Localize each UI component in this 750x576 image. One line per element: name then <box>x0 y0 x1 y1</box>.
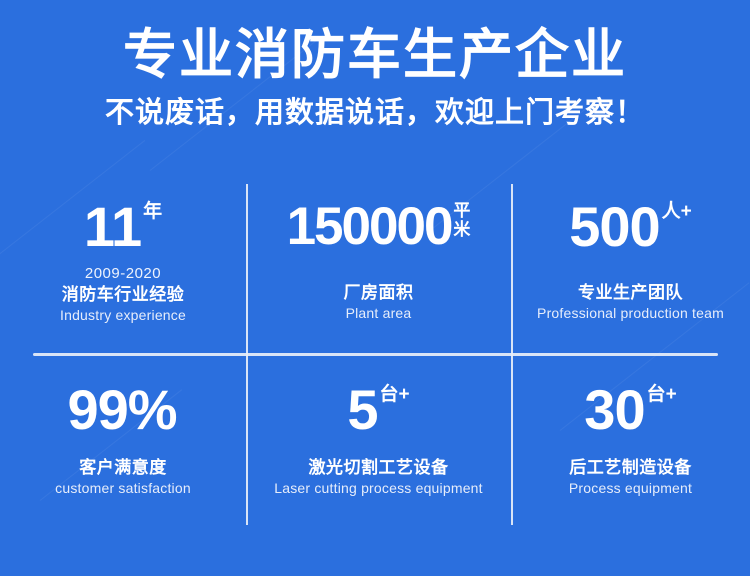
stat-figure: 500 人+ <box>569 198 692 256</box>
stat-cell-plant-area: 150000 平 米 厂房面积 Plant area <box>246 184 511 353</box>
stat-figure: 5 台+ <box>347 381 409 439</box>
stats-grid: 11 年 2009-2020 消防车行业经验 Industry experien… <box>0 184 750 525</box>
page-title: 专业消防车生产企业 <box>0 0 750 86</box>
stat-unit: 台+ <box>645 381 677 405</box>
stat-year-range: 2009-2020 <box>85 264 161 283</box>
stat-label-cn: 激光切割工艺设备 <box>309 457 449 479</box>
stat-figure: 11 年 <box>84 198 162 256</box>
stat-number: 99% <box>67 381 176 439</box>
stat-label-cn: 客户满意度 <box>79 457 167 479</box>
stat-label-en: Professional production team <box>537 304 724 323</box>
stat-figure: 150000 平 米 <box>287 198 471 256</box>
page-subtitle: 不说废话，用数据说话，欢迎上门考察！ <box>0 86 750 132</box>
banner-header: 专业消防车生产企业 不说废话，用数据说话，欢迎上门考察！ <box>0 0 750 132</box>
stat-label-cn: 厂房面积 <box>344 282 414 304</box>
stat-number: 30 <box>584 381 644 439</box>
stat-label-cn: 消防车行业经验 <box>62 284 185 306</box>
stat-number: 150000 <box>287 198 452 256</box>
stat-label-en: Process equipment <box>569 479 692 498</box>
stat-unit: 人+ <box>660 198 692 222</box>
stat-unit: 年 <box>141 198 162 222</box>
stat-number: 500 <box>569 198 659 256</box>
stat-label-en: Plant area <box>346 304 412 323</box>
stat-cell-process-equipment: 30 台+ 后工艺制造设备 Process equipment <box>511 353 750 525</box>
stat-number: 5 <box>347 381 377 439</box>
stat-unit-line1: 平 <box>453 201 470 220</box>
stat-unit <box>177 381 179 385</box>
stat-cell-production-team: 500 人+ 专业生产团队 Professional production te… <box>511 184 750 353</box>
stat-label-cn: 专业生产团队 <box>578 282 683 304</box>
stat-cell-industry-experience: 11 年 2009-2020 消防车行业经验 Industry experien… <box>0 184 246 353</box>
stat-number: 11 <box>84 198 141 256</box>
stat-figure: 30 台+ <box>584 381 676 439</box>
stat-figure: 99% <box>67 381 178 439</box>
stat-label-cn: 后工艺制造设备 <box>569 457 692 479</box>
stat-unit-line2: 米 <box>453 220 470 239</box>
promo-banner: 专业消防车生产企业 不说废话，用数据说话，欢迎上门考察！ 11 年 2009-2… <box>0 0 750 576</box>
stat-label-en: Laser cutting process equipment <box>274 479 483 498</box>
stat-label-en: customer satisfaction <box>55 479 191 498</box>
stat-unit: 台+ <box>378 381 410 405</box>
stat-unit: 平 米 <box>451 198 470 239</box>
stat-label-en: Industry experience <box>60 306 186 325</box>
stat-cell-customer-satisfaction: 99% 客户满意度 customer satisfaction <box>0 353 246 525</box>
stat-cell-laser-cutting-equipment: 5 台+ 激光切割工艺设备 Laser cutting process equi… <box>246 353 511 525</box>
